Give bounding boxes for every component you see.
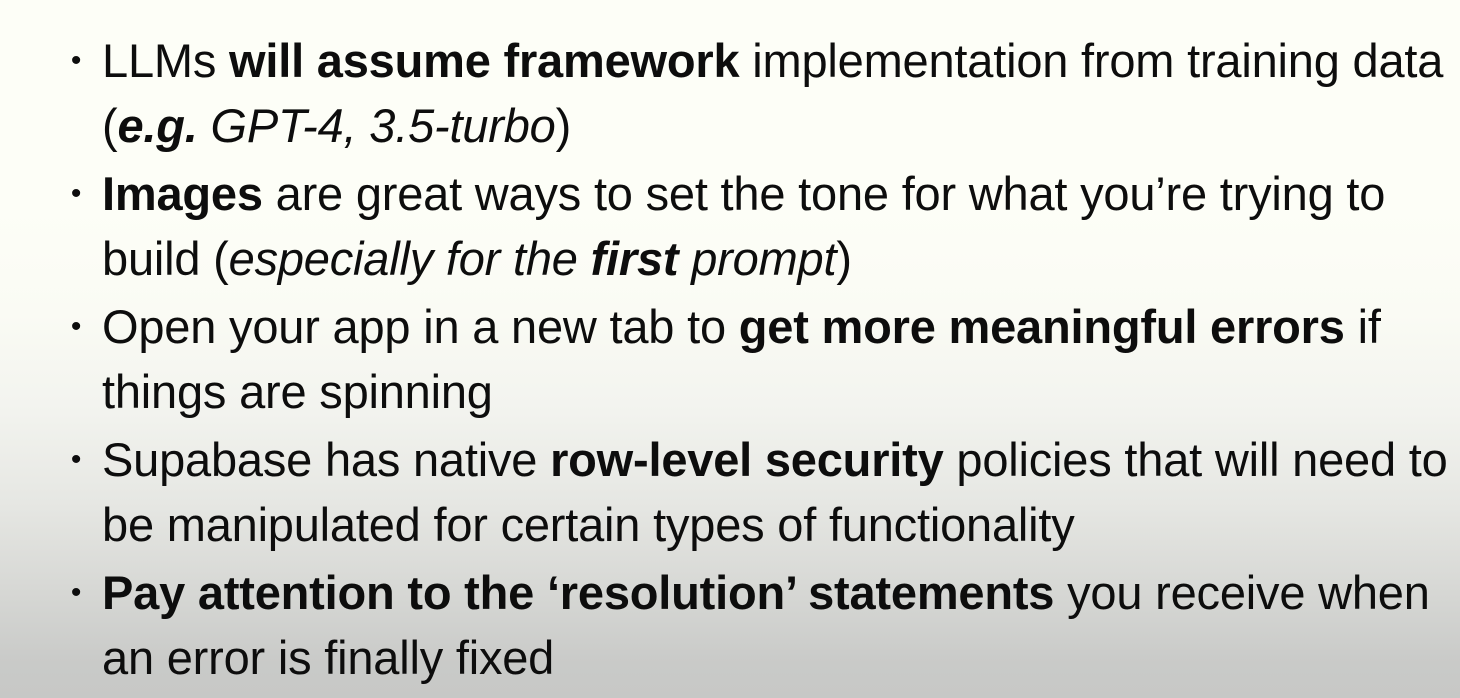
bullet-point-icon: • xyxy=(69,294,83,359)
bullet-list: • LLMs will assume framework implementat… xyxy=(62,28,1450,693)
list-item: • Supabase has native row-level security… xyxy=(62,427,1450,557)
list-item: • Open your app in a new tab to get more… xyxy=(62,294,1450,424)
bullet-text-resolution-statements: Pay attention to the ‘resolution’ statem… xyxy=(102,560,1450,690)
bullet-point-icon: • xyxy=(69,161,83,226)
list-item: • Images are great ways to set the tone … xyxy=(62,161,1450,291)
bullet-point-icon: • xyxy=(69,560,83,625)
bullet-text-images-set-the-tone: Images are great ways to set the tone fo… xyxy=(102,161,1450,291)
slide-canvas: • LLMs will assume framework implementat… xyxy=(0,0,1460,698)
bullet-text-supabase-row-level-security: Supabase has native row-level security p… xyxy=(102,427,1450,557)
bullet-point-icon: • xyxy=(69,427,83,492)
bullet-point-icon: • xyxy=(69,28,83,93)
list-item: • Pay attention to the ‘resolution’ stat… xyxy=(62,560,1450,690)
bullet-text-open-app-new-tab: Open your app in a new tab to get more m… xyxy=(102,294,1450,424)
list-item: • LLMs will assume framework implementat… xyxy=(62,28,1450,158)
bullet-text-llms-assume-framework: LLMs will assume framework implementatio… xyxy=(102,28,1450,158)
